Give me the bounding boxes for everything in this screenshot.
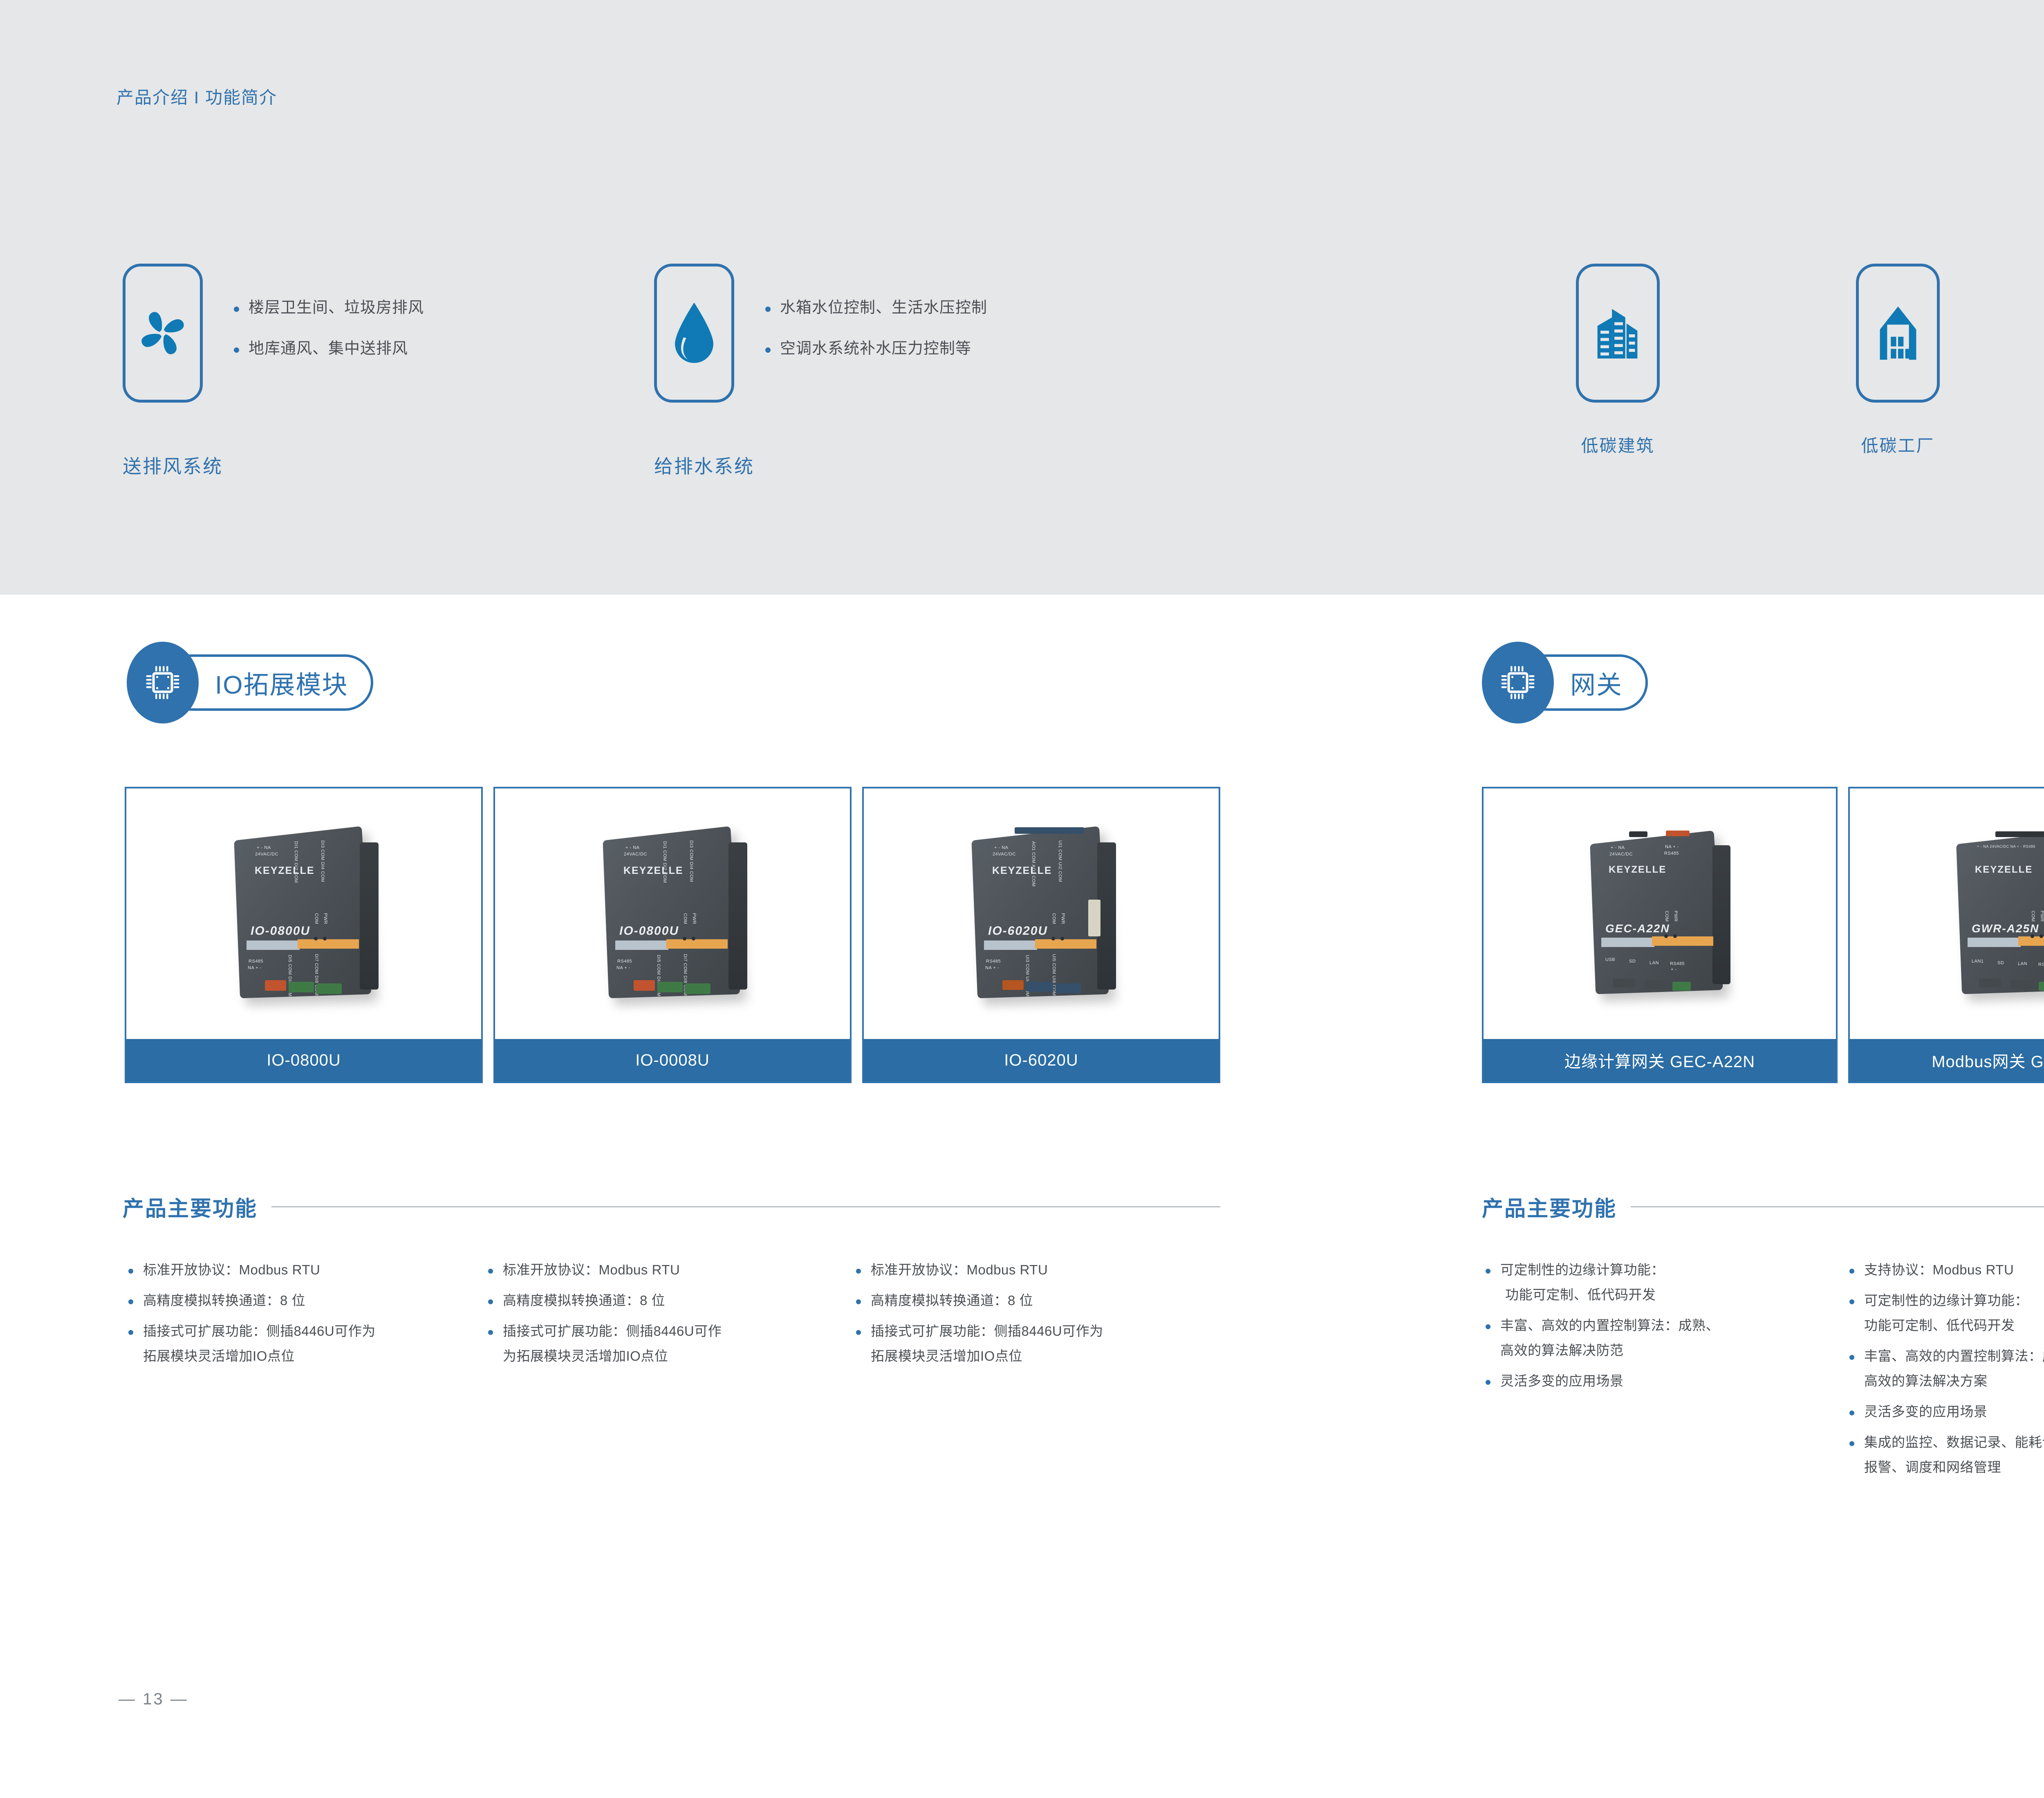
feature-line: 丰富、高效的内置控制算法：成熟、	[1864, 1348, 2044, 1364]
scenario-ventilation-bullets: 楼层卫生间、垃圾房排风 地库通风、集中送排风	[231, 264, 424, 381]
device-brand: KEYZELLE	[1975, 864, 2033, 875]
list-item: 支持协议：Modbus RTU	[1848, 1263, 2044, 1276]
feature-line: 高精度模拟转换通道：8 位	[871, 1293, 1033, 1308]
product-image: KEYZELLE GEC-A22N + - NA 24VAC/DC NA + -…	[1484, 788, 1836, 1039]
list-item: 标准开放协议：Modbus RTU	[486, 1263, 854, 1276]
feature-line: 灵活多变的应用场景	[1864, 1404, 1988, 1419]
product-card[interactable]: KEYZELLE IO-6020U + - NA 24VAC/DC AO1 CO…	[862, 787, 1220, 1083]
list-item: 插接式可扩展功能：侧插8446U可作为 拓展模块灵活增加IO点位	[127, 1324, 486, 1363]
device-brand: KEYZELLE	[255, 865, 315, 877]
product-caption: 边缘计算网关 GEC-A22N	[1484, 1039, 1836, 1081]
feature-line: 高精度模拟转换通道：8 位	[143, 1293, 305, 1308]
device-model: GEC-A22N	[1605, 922, 1670, 935]
device-illustration: KEYZELLE IO-0800U + - NA 24VAC/DC DI1 CO…	[216, 820, 392, 1008]
list-item: 高精度模拟转换通道：8 位	[127, 1294, 486, 1307]
feature-column: 可定制性的边缘计算功能： 功能可定制、低代码开发 丰富、高效的内置控制算法：成熟…	[1484, 1263, 1848, 1491]
water-drop-icon-frame	[654, 264, 734, 403]
feature-line: 可定制性的边缘计算功能：	[1500, 1262, 1665, 1277]
feature-line-2: 拓展模块灵活增加IO点位	[871, 1349, 1214, 1363]
list-item: 丰富、高效的内置控制算法：成熟、 高效的算法解决方案	[1848, 1349, 2044, 1388]
feature-line: 标准开放协议：Modbus RTU	[143, 1262, 320, 1277]
page-header-left: 产品介绍 I 功能简介	[117, 84, 277, 109]
list-item: 插接式可扩展功能：侧插8446U可作 为拓展模块灵活增加IO点位	[486, 1324, 854, 1363]
list-item: 丰富、高效的内置控制算法：成熟、 高效的算法解决防范	[1484, 1319, 1848, 1357]
scenario-ventilation-label: 送排风系统	[123, 452, 223, 479]
page-number-left: — 13 —	[119, 1690, 188, 1708]
scenario-water-bullets: 水箱水位控制、生活水压控制 空调水系统补水压力控制等	[763, 264, 987, 381]
product-caption: IO-6020U	[864, 1039, 1219, 1081]
feature-line: 可定制性的边缘计算功能：	[1864, 1293, 2028, 1308]
feature-line: 插接式可扩展功能：侧插8446U可作为	[143, 1323, 376, 1339]
list-item: 可定制性的边缘计算功能： 功能可定制、低代码开发	[1848, 1294, 2044, 1332]
list-item: 高精度模拟转换通道：8 位	[854, 1294, 1214, 1307]
water-drop-icon	[666, 300, 723, 366]
device-illustration: KEYZELLE GWR-A25N + - NA 24VAC/DC NA + -…	[1938, 820, 2044, 1008]
list-item: 地库通风、集中送排风	[231, 340, 424, 358]
low-carbon-building-label: 低碳建筑	[1581, 432, 1654, 457]
list-item: 空调水系统补水压力控制等	[763, 340, 987, 358]
feature-line: 高精度模拟转换通道：8 位	[503, 1293, 665, 1308]
device-brand: KEYZELLE	[992, 865, 1052, 877]
scenario-water-label: 给排水系统	[654, 452, 754, 479]
low-carbon-factory: 低碳工厂	[1856, 264, 1940, 457]
list-item: 标准开放协议：Modbus RTU	[127, 1263, 486, 1276]
device-illustration: KEYZELLE IO-0800U + - NA 24VAC/DC DI1 CO…	[585, 820, 760, 1008]
list-item: 可定制性的边缘计算功能： 功能可定制、低代码开发	[1484, 1263, 1848, 1301]
feature-line-2: 报警、调度和网络管理	[1864, 1460, 2044, 1474]
section-badge-gateway: 网关	[1482, 642, 1648, 723]
product-card[interactable]: KEYZELLE IO-0800U + - NA 24VAC/DC DI1 CO…	[493, 787, 852, 1083]
feature-line: 插接式可扩展功能：侧插8446U可作为	[871, 1323, 1103, 1339]
feature-line: 灵活多变的应用场景	[1500, 1373, 1624, 1388]
chip-icon-circle	[127, 642, 199, 723]
list-item: 高精度模拟转换通道：8 位	[486, 1294, 854, 1307]
scenario-ventilation: 楼层卫生间、垃圾房排风 地库通风、集中送排风	[123, 264, 424, 403]
fan-icon	[132, 302, 193, 364]
features-header-io: 产品主要功能	[123, 1191, 1220, 1222]
section-badge-io: IO拓展模块	[127, 642, 373, 723]
device-illustration: KEYZELLE GEC-A22N + - NA 24VAC/DC NA + -…	[1572, 820, 1748, 1008]
feature-line: 集成的监控、数据记录、能耗计量、	[1864, 1435, 2044, 1450]
device-model: IO-6020U	[988, 924, 1048, 938]
list-item: 集成的监控、数据记录、能耗计量、 报警、调度和网络管理	[1848, 1435, 2044, 1474]
product-cards-gateway: KEYZELLE GEC-A22N + - NA 24VAC/DC NA + -…	[1482, 787, 2044, 1083]
product-caption: IO-0008U	[495, 1039, 850, 1081]
list-item: 灵活多变的应用场景	[1484, 1374, 1848, 1388]
product-image: KEYZELLE IO-0800U + - NA 24VAC/DC DI1 CO…	[495, 788, 850, 1039]
feature-line: 标准开放协议：Modbus RTU	[503, 1262, 680, 1277]
device-model: GWR-A25N	[1972, 922, 2039, 935]
low-carbon-building: 低碳建筑	[1576, 264, 1660, 457]
fan-icon-frame	[123, 264, 203, 403]
chip-icon-circle	[1482, 642, 1554, 723]
feature-column: 标准开放协议：Modbus RTU 高精度模拟转换通道：8 位 插接式可扩展功能…	[127, 1263, 486, 1380]
feature-line-2: 拓展模块灵活增加IO点位	[143, 1349, 486, 1363]
low-carbon-factory-label: 低碳工厂	[1861, 432, 1934, 457]
feature-column: 支持协议：Modbus RTU 可定制性的边缘计算功能： 功能可定制、低代码开发…	[1848, 1263, 2044, 1491]
section-badge-gateway-label: 网关	[1570, 664, 1623, 701]
factory-icon	[1874, 303, 1923, 363]
feature-line-2: 高效的算法解决方案	[1864, 1374, 2044, 1388]
feature-line-2: 高效的算法解决防范	[1500, 1343, 1848, 1357]
office-buildings-icon-frame	[1576, 264, 1660, 403]
device-brand: KEYZELLE	[1609, 864, 1666, 875]
list-item: 标准开放协议：Modbus RTU	[854, 1263, 1214, 1276]
product-cards-io: KEYZELLE IO-0800U + - NA 24VAC/DC DI1 CO…	[125, 787, 1220, 1083]
feature-line: 丰富、高效的内置控制算法：成熟、	[1500, 1318, 1719, 1333]
product-caption: Modbus网关 GWR-A25N	[1850, 1039, 2044, 1081]
divider	[271, 1206, 1220, 1207]
scenario-water: 水箱水位控制、生活水压控制 空调水系统补水压力控制等	[654, 264, 987, 403]
feature-line: 插接式可扩展功能：侧插8446U可作	[503, 1323, 722, 1339]
product-image: KEYZELLE IO-6020U + - NA 24VAC/DC AO1 CO…	[864, 788, 1219, 1039]
device-model: IO-0800U	[619, 924, 679, 938]
product-image: KEYZELLE IO-0800U + - NA 24VAC/DC DI1 CO…	[126, 788, 481, 1039]
feature-line: 支持协议：Modbus RTU	[1864, 1262, 2014, 1277]
feature-columns-io: 标准开放协议：Modbus RTU 高精度模拟转换通道：8 位 插接式可扩展功能…	[127, 1263, 1214, 1380]
feature-line: 标准开放协议：Modbus RTU	[871, 1262, 1048, 1277]
list-item: 插接式可扩展功能：侧插8446U可作为 拓展模块灵活增加IO点位	[854, 1324, 1214, 1363]
feature-column: 标准开放协议：Modbus RTU 高精度模拟转换通道：8 位 插接式可扩展功能…	[854, 1263, 1214, 1380]
product-card[interactable]: KEYZELLE GWR-A25N + - NA 24VAC/DC NA + -…	[1848, 787, 2044, 1083]
features-title: 产品主要功能	[123, 1191, 258, 1222]
office-buildings-icon	[1591, 303, 1645, 363]
divider	[1631, 1206, 2044, 1207]
feature-columns-gateway: 可定制性的边缘计算功能： 功能可定制、低代码开发 丰富、高效的内置控制算法：成熟…	[1484, 1263, 2044, 1491]
features-title: 产品主要功能	[1482, 1191, 1617, 1222]
section-badge-io-label: IO拓展模块	[215, 664, 348, 701]
product-caption: IO-0800U	[126, 1039, 481, 1081]
list-item: 灵活多变的应用场景	[1848, 1405, 2044, 1418]
feature-line-2: 功能可定制、低代码开发	[1864, 1319, 2044, 1332]
device-brand: KEYZELLE	[623, 865, 684, 877]
features-header-gateway: 产品主要功能	[1482, 1191, 2044, 1222]
chip-icon	[1498, 663, 1537, 702]
product-image: KEYZELLE GWR-A25N + - NA 24VAC/DC NA + -…	[1850, 788, 2044, 1039]
device-model: IO-0800U	[251, 924, 310, 938]
chip-icon	[143, 663, 182, 702]
list-item: 楼层卫生间、垃圾房排风	[231, 300, 424, 317]
feature-column: 标准开放协议：Modbus RTU 高精度模拟转换通道：8 位 插接式可扩展功能…	[486, 1263, 854, 1380]
feature-line-2: 功能可定制、低代码开发	[1500, 1288, 1848, 1301]
product-card[interactable]: KEYZELLE GEC-A22N + - NA 24VAC/DC NA + -…	[1482, 787, 1838, 1083]
device-illustration: KEYZELLE IO-6020U + - NA 24VAC/DC AO1 CO…	[953, 820, 1129, 1008]
factory-icon-frame	[1856, 264, 1940, 403]
feature-line-2: 为拓展模块灵活增加IO点位	[503, 1349, 854, 1363]
list-item: 水箱水位控制、生活水压控制	[763, 300, 987, 317]
product-card[interactable]: KEYZELLE IO-0800U + - NA 24VAC/DC DI1 CO…	[125, 787, 483, 1083]
